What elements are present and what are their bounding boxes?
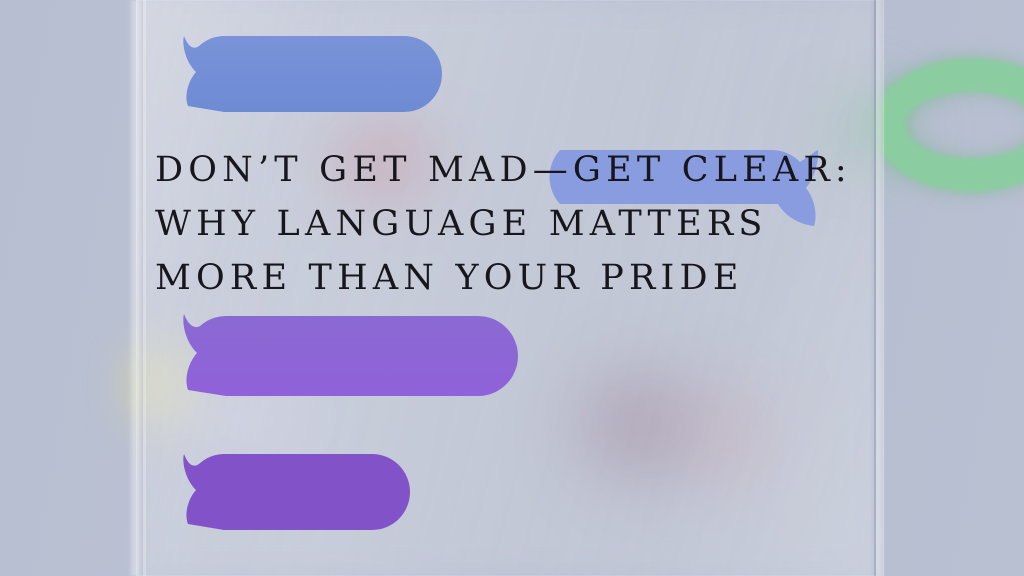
title-line-2: WHY LANGUAGE MATTERS	[155, 197, 855, 251]
chat-bubble-purple-mid	[182, 312, 520, 396]
title-line-1: DON’T GET MAD—GET CLEAR:	[155, 143, 855, 197]
title-line-3: MORE THAN YOUR PRIDE	[155, 251, 855, 305]
glass-edge-left-highlight	[143, 0, 146, 576]
page-title: DON’T GET MAD—GET CLEAR: WHY LANGUAGE MA…	[155, 143, 855, 305]
glass-edge-right-line	[874, 0, 876, 576]
chat-bubble-blue-top	[182, 34, 442, 112]
chat-bubble-purple-deep	[182, 452, 410, 530]
glass-edge-left	[128, 0, 144, 576]
poster-canvas: DON’T GET MAD—GET CLEAR: WHY LANGUAGE MA…	[0, 0, 1024, 576]
